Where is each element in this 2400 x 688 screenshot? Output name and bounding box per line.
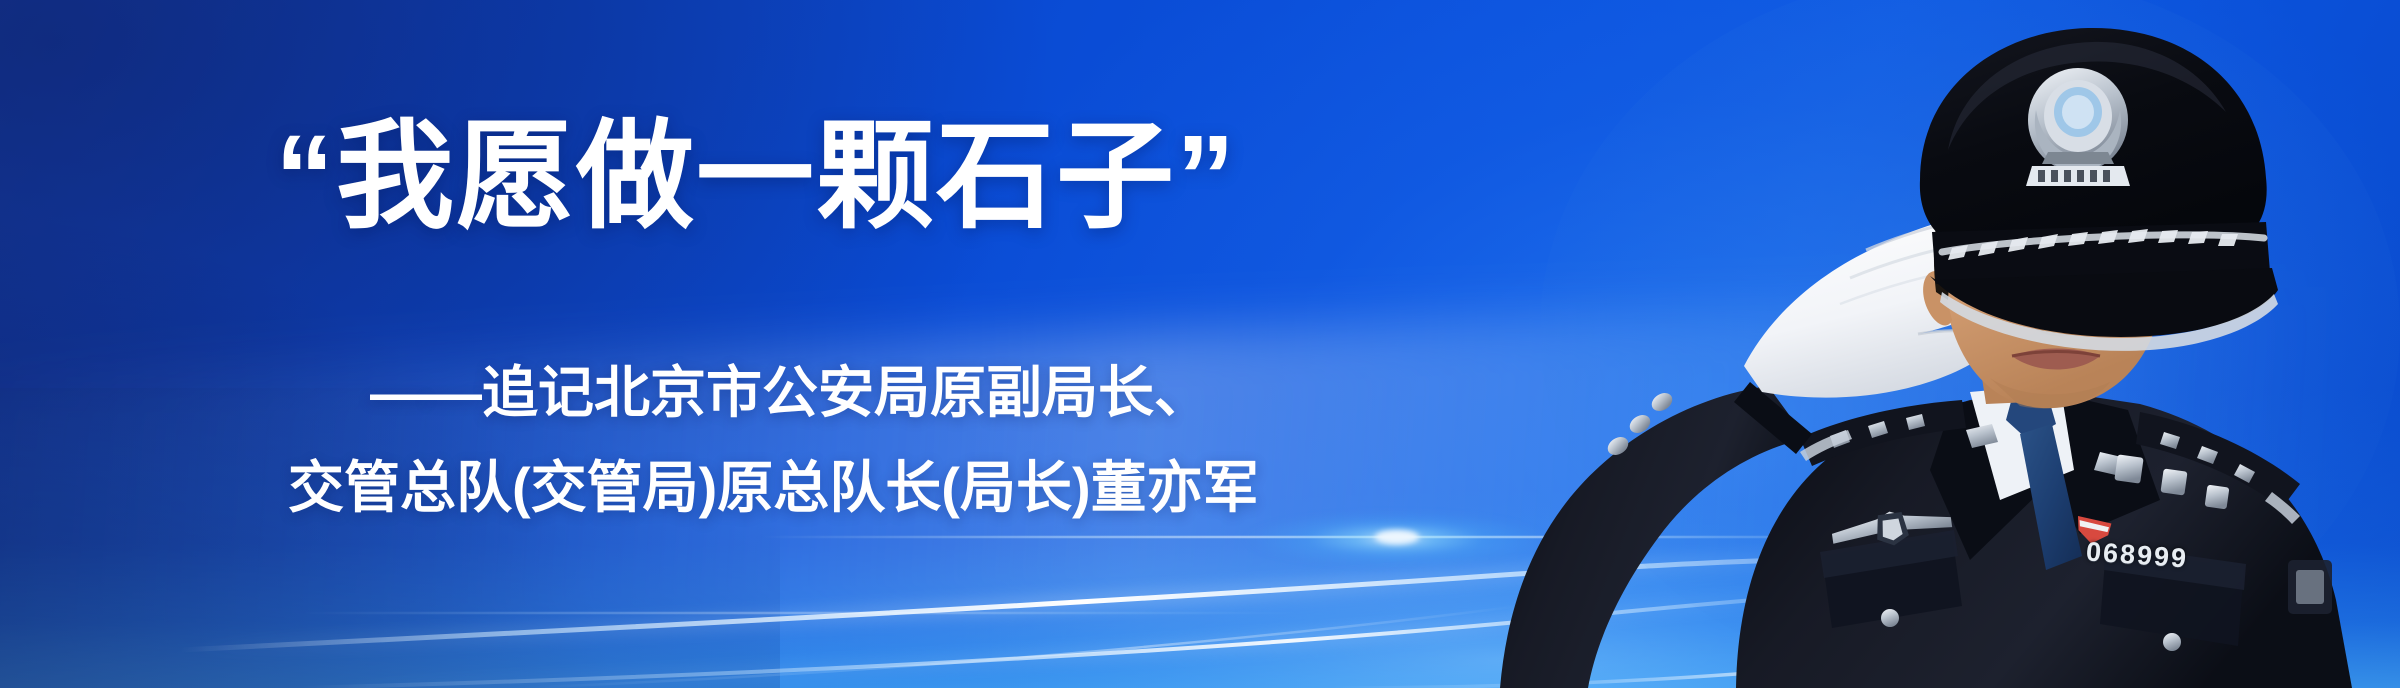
chest-badge-square-2: [2160, 468, 2187, 495]
police-cap-emblem: [2026, 68, 2130, 186]
police-tribute-banner: “我愿做一颗石子” ——追记北京市公安局原副局长、 交管总队(交管局)原总队长(…: [0, 0, 2400, 688]
subtitle-line-1: ——追记北京市公安局原副局长、: [370, 365, 1210, 421]
subtitle-line-2: 交管总队(交管局)原总队长(局长)董亦军: [288, 460, 1259, 516]
chest-badge-square: [2114, 454, 2143, 483]
chest-badge-square-3: [2205, 485, 2230, 510]
saluting-police-officer-portrait: 068999: [1500, 0, 2400, 688]
page-title: “我愿做一颗石子”: [275, 118, 1315, 236]
banner-text-block: “我愿做一颗石子” ——追记北京市公安局原副局长、 交管总队(交管局)原总队长(…: [0, 0, 1560, 688]
